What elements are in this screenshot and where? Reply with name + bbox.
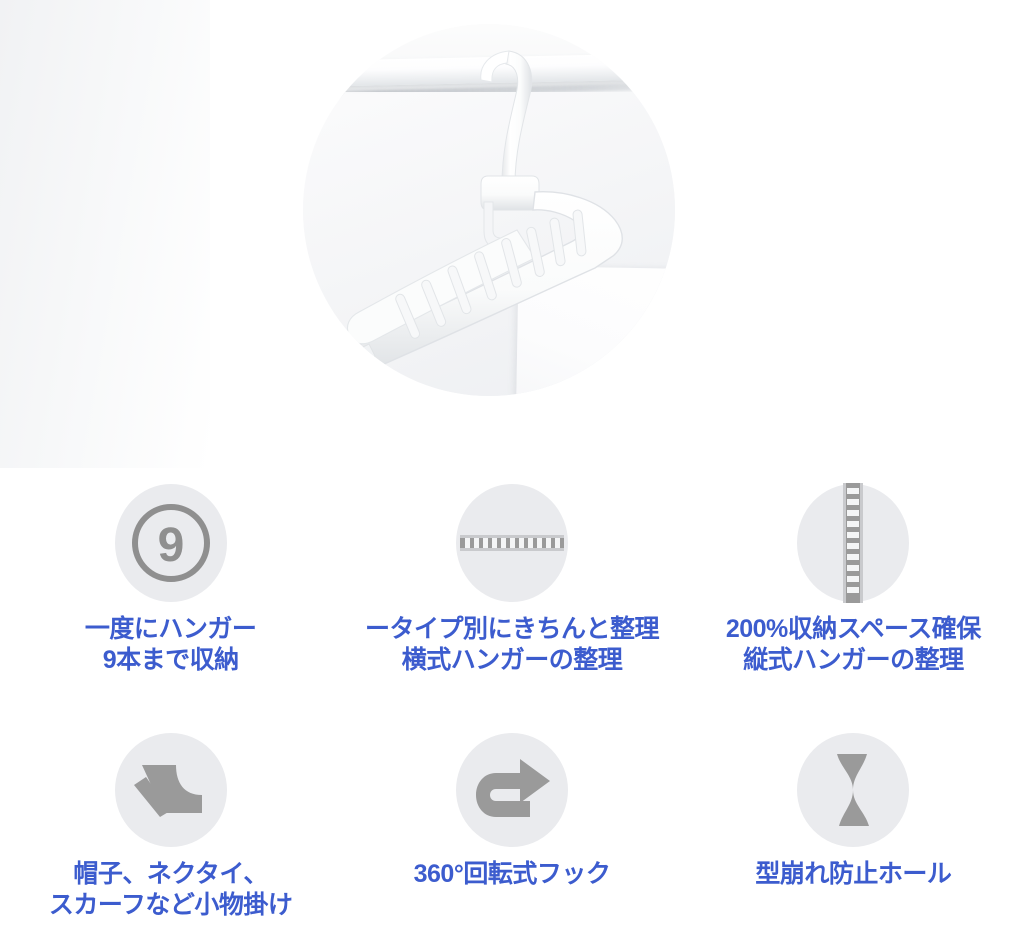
wavy-hole-icon-bubble <box>797 733 909 847</box>
caption-line: スカーフなど小物掛け <box>49 890 293 921</box>
hero-left-gradient <box>0 0 210 468</box>
wavy-hole-icon <box>823 750 883 830</box>
caption-line: ータイプ別にきちんと整理 <box>365 614 659 645</box>
feature-grid: 9 一度にハンガー 9本まで収納 <box>0 468 1024 946</box>
rotating-hook-icon <box>303 24 675 396</box>
caption-line: 帽子、ネクタイ、 <box>49 859 293 890</box>
feature-cell-accessories: 帽子、ネクタイ、 スカーフなど小物掛け <box>0 733 341 920</box>
feature-caption-accessories: 帽子、ネクタイ、 スカーフなど小物掛け <box>49 859 293 920</box>
feature-row-2: 帽子、ネクタイ、 スカーフなど小物掛け 360°回転式フック 型崩れ防止ホール <box>0 675 1024 920</box>
caption-line: 200%収納スペース確保 <box>726 614 981 645</box>
vertical-rack-icon-bubble <box>797 484 909 602</box>
nine-glyph: 9 <box>157 519 184 572</box>
circled-number-nine-icon: 9 <box>127 499 215 587</box>
feature-cell-antideform: 型崩れ防止ホール <box>683 733 1024 920</box>
feature-cell-capacity: 9 一度にハンガー 9本まで収納 <box>0 484 341 675</box>
caption-line: 縦式ハンガーの整理 <box>726 645 981 676</box>
feature-cell-rotation: 360°回転式フック <box>341 733 682 920</box>
feature-cell-vertical: 200%収納スペース確保 縦式ハンガーの整理 <box>683 484 1024 675</box>
horizontal-rack-icon <box>458 499 566 587</box>
feature-caption-capacity: 一度にハンガー 9本まで収納 <box>85 614 257 675</box>
rotate-arrow-icon <box>472 753 552 827</box>
caption-line: 横式ハンガーの整理 <box>365 645 659 676</box>
caption-line: 9本まで収納 <box>85 645 257 676</box>
feature-caption-horizontal: ータイプ別にきちんと整理 横式ハンガーの整理 <box>365 614 659 675</box>
rotate-arrow-icon-bubble <box>456 733 568 847</box>
caption-line: 型崩れ防止ホール <box>755 859 951 890</box>
feature-caption-vertical: 200%収納スペース確保 縦式ハンガーの整理 <box>726 614 981 675</box>
horizontal-rack-icon-bubble <box>456 484 568 602</box>
feature-caption-antideform: 型崩れ防止ホール <box>755 859 951 890</box>
hook-notch-icon <box>130 755 212 825</box>
product-photo-circle <box>303 24 675 396</box>
feature-cell-horizontal: ータイプ別にきちんと整理 横式ハンガーの整理 <box>341 484 682 675</box>
feature-row-1: 9 一度にハンガー 9本まで収納 <box>0 468 1024 675</box>
circled-number-nine-icon-bubble: 9 <box>115 484 227 602</box>
hook-notch-icon-bubble <box>115 733 227 847</box>
hero-product-image <box>0 0 1024 468</box>
feature-caption-rotation: 360°回転式フック <box>414 859 611 890</box>
caption-line: 一度にハンガー <box>85 614 257 645</box>
caption-line: 360°回転式フック <box>414 859 611 890</box>
vertical-rack-icon <box>809 481 897 605</box>
